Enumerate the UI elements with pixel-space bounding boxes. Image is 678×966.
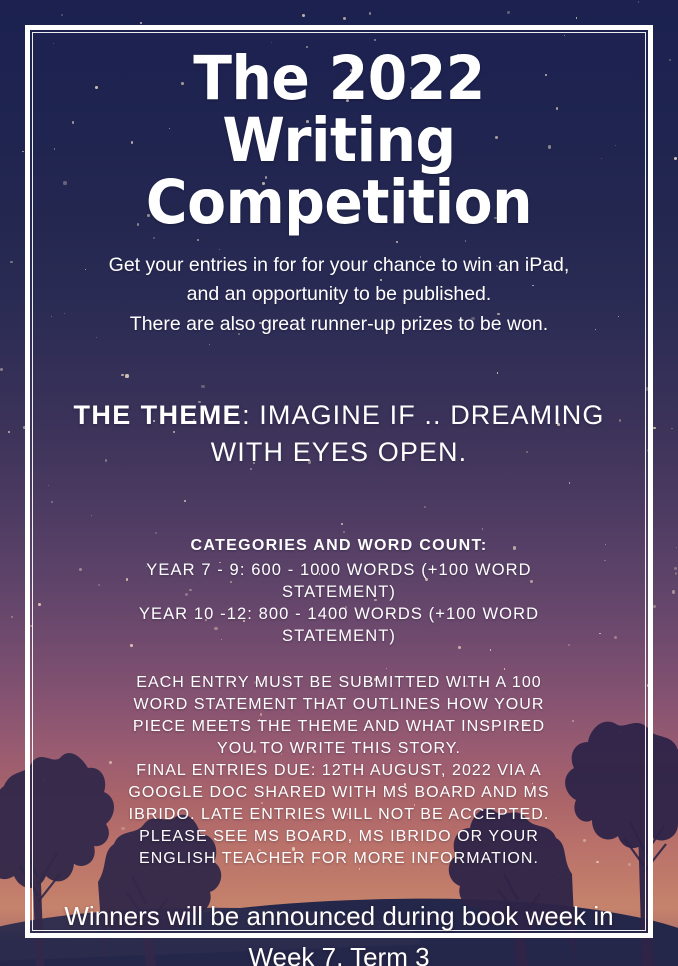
footer-announcement: Winners will be announced during book we…	[59, 896, 619, 966]
categories-line-2: YEAR 10 -12: 800 - 1400 WORDS (+100 WORD…	[129, 603, 549, 648]
star-dot	[671, 428, 673, 430]
poster-canvas: The 2022 Writing Competition Get your en…	[0, 0, 678, 966]
poster-content: The 2022 Writing Competition Get your en…	[32, 32, 646, 931]
star-dot	[653, 427, 655, 429]
subtitle-line-3: There are also great runner-up prizes to…	[59, 310, 619, 340]
theme-separator: :	[242, 400, 259, 430]
theme-statement: THE THEME: IMAGINE IF .. DREAMING WITH E…	[54, 397, 624, 472]
poster-title: The 2022 Writing Competition	[74, 48, 604, 235]
details-paragraph-1: EACH ENTRY MUST BE SUBMITTED WITH A 100 …	[114, 672, 564, 760]
star-dot	[675, 572, 678, 575]
star-dot	[664, 785, 666, 787]
details-paragraph-2: FINAL ENTRIES DUE: 12TH AUGUST, 2022 VIA…	[114, 760, 564, 826]
star-dot	[653, 605, 655, 607]
categories-block: CATEGORIES AND WORD COUNT: YEAR 7 - 9: 6…	[129, 535, 549, 648]
star-dot	[369, 12, 372, 15]
star-dot	[8, 431, 10, 433]
theme-text: IMAGINE IF .. DREAMING WITH EYES OPEN.	[211, 400, 605, 467]
star-dot	[10, 261, 12, 263]
star-dot	[0, 368, 3, 371]
theme-label: THE THEME	[73, 400, 242, 430]
star-dot	[61, 14, 63, 16]
star-dot	[674, 157, 677, 160]
star-dot	[638, 1, 639, 2]
subtitle-line-1: Get your entries in for for your chance …	[59, 251, 619, 281]
star-dot	[343, 17, 346, 20]
star-dot	[576, 17, 577, 18]
categories-heading: CATEGORIES AND WORD COUNT:	[129, 535, 549, 557]
star-dot	[507, 11, 510, 14]
details-paragraph-3: PLEASE SEE MS BOARD, MS IBRIDO OR YOUR E…	[114, 826, 564, 870]
details-block: EACH ENTRY MUST BE SUBMITTED WITH A 100 …	[114, 672, 564, 871]
star-dot	[672, 590, 675, 593]
star-dot	[674, 567, 677, 570]
poster-subtitle: Get your entries in for for your chance …	[59, 251, 619, 340]
star-dot	[22, 151, 24, 153]
star-dot	[302, 14, 305, 17]
star-dot	[676, 547, 678, 549]
star-dot	[11, 616, 13, 618]
subtitle-line-2: and an opportunity to be published.	[59, 280, 619, 310]
star-dot	[669, 59, 671, 61]
categories-line-1: YEAR 7 - 9: 600 - 1000 WORDS (+100 WORD …	[129, 559, 549, 604]
